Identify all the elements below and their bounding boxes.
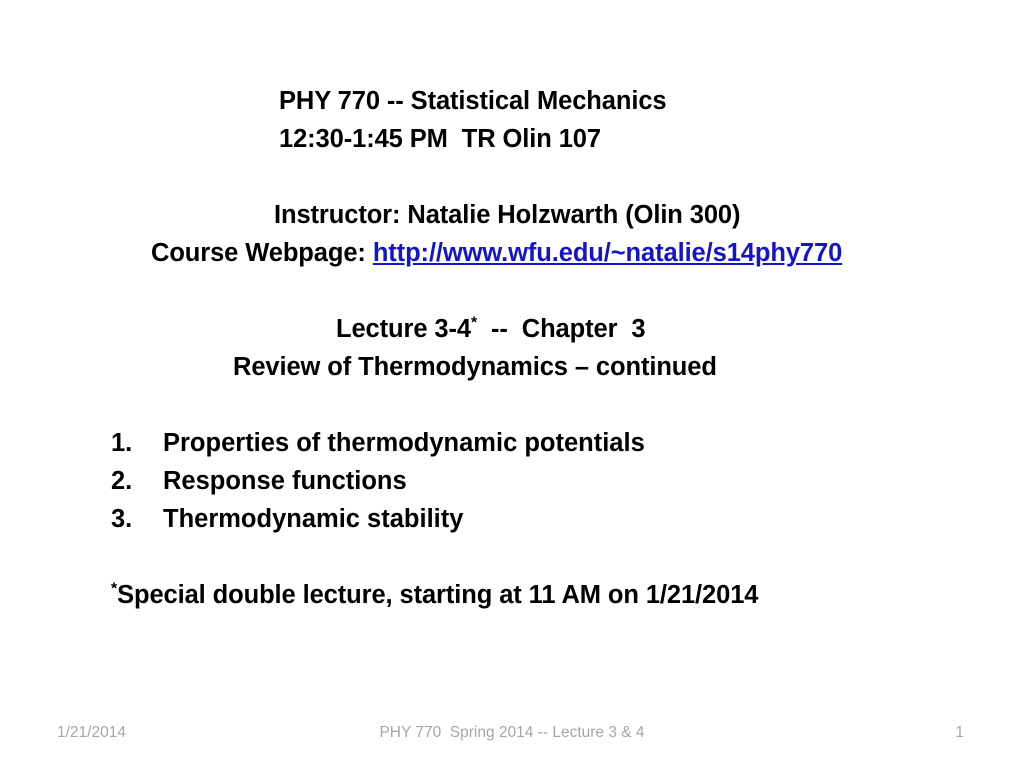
- slide-canvas: PHY 770 -- Statistical Mechanics 12:30-1…: [0, 0, 1024, 768]
- spacer-line-1: [0, 158, 1024, 196]
- lecture-chapter-heading: Lecture 3-4* -- Chapter 3: [0, 310, 1024, 348]
- topic-label-1: Properties of thermodynamic potentials: [163, 424, 645, 462]
- slide-title-line-2: 12:30-1:45 PM TR Olin 107: [0, 120, 1024, 158]
- footnote-line: *Special double lecture, starting at 11 …: [0, 576, 1024, 614]
- topic-label-3: Thermodynamic stability: [163, 500, 463, 538]
- topic-list-item-3: 3.Thermodynamic stability: [0, 500, 1024, 538]
- slide-content-body: PHY 770 -- Statistical Mechanics 12:30-1…: [0, 82, 1024, 614]
- review-subtitle-line: Review of Thermodynamics – continued: [0, 348, 1024, 386]
- topic-number-3: 3.: [111, 500, 163, 538]
- footer-course-label: PHY 770 Spring 2014 -- Lecture 3 & 4: [0, 724, 1024, 742]
- footer-page-number: 1: [955, 724, 964, 742]
- lecture-heading-text: Lecture 3-4: [336, 315, 471, 343]
- footnote-text: Special double lecture, starting at 11 A…: [117, 581, 758, 609]
- topic-number-2: 2.: [111, 462, 163, 500]
- topic-list-item-2: 2.Response functions: [0, 462, 1024, 500]
- topic-label-2: Response functions: [163, 462, 407, 500]
- instructor-line: Instructor: Natalie Holzwarth (Olin 300): [0, 196, 1024, 234]
- course-webpage-link[interactable]: http://www.wfu.edu/~natalie/s14phy770: [373, 239, 842, 267]
- course-webpage-label: Course Webpage:: [151, 239, 373, 267]
- topic-number-1: 1.: [111, 424, 163, 462]
- slide-title-line-1: PHY 770 -- Statistical Mechanics: [0, 82, 1024, 120]
- slide-footer: 1/21/2014 PHY 770 Spring 2014 -- Lecture…: [0, 712, 1024, 768]
- spacer-line-4: [0, 538, 1024, 576]
- spacer-line-3: [0, 386, 1024, 424]
- chapter-heading-text: -- Chapter 3: [477, 315, 645, 343]
- course-webpage-line: Course Webpage: http://www.wfu.edu/~nata…: [0, 234, 1024, 272]
- topic-list-item-1: 1.Properties of thermodynamic potentials: [0, 424, 1024, 462]
- spacer-line-2: [0, 272, 1024, 310]
